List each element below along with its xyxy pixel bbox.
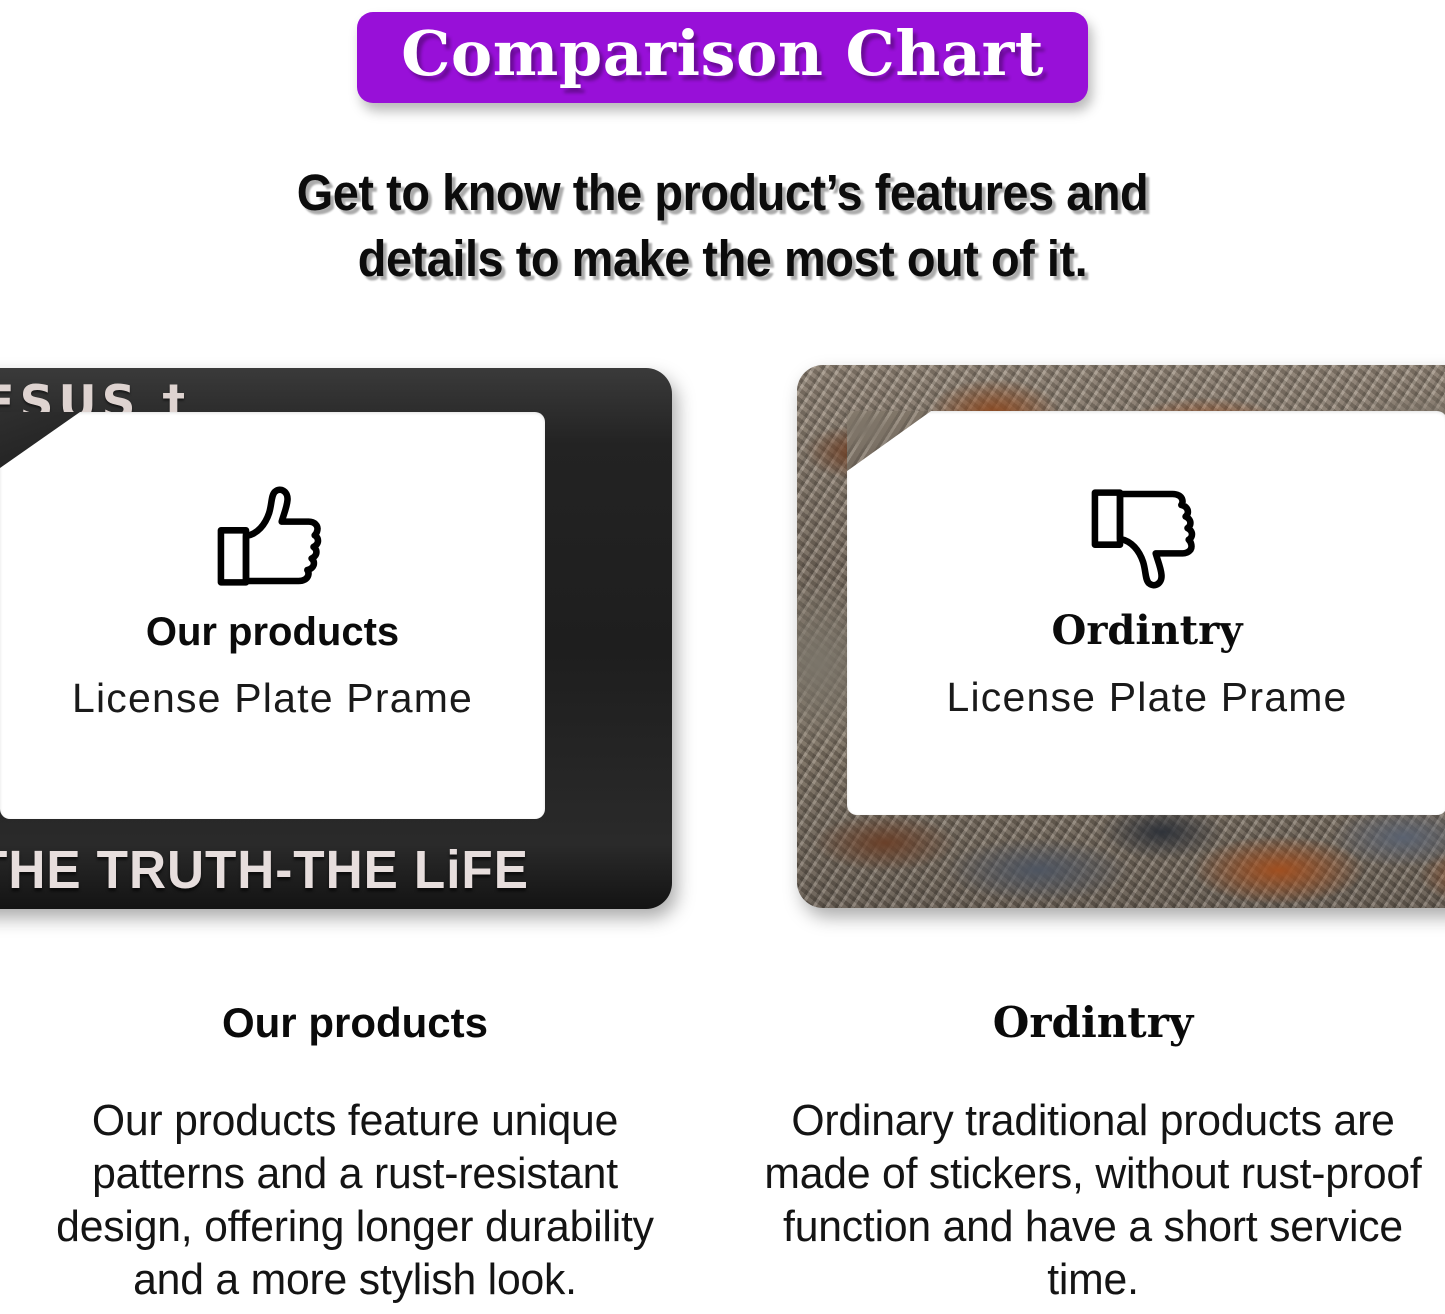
header-banner: Comparison Chart [357,12,1088,103]
description-body-ours: Our products feature unique patterns and… [20,1094,689,1306]
thumbs-up-icon [214,484,332,592]
subtitle: Get to know the product’s features and d… [141,160,1305,292]
subtitle-line-1: Get to know the product’s features and [141,160,1305,226]
page-title: Comparison Chart [401,18,1044,89]
plate-subheading-ordinary: License Plate Prame [847,675,1445,720]
product-plate-ordinary[interactable]: Ordintry License Plate Prame [797,365,1445,908]
subtitle-line-2: details to make the most out of it. [141,226,1305,292]
plate-bottom-slogan-ours: -THE TRUTH-THE LiFE [0,839,672,901]
description-heading-ours: Our products [10,1000,700,1046]
description-heading-ordinary: Ordintry [748,1000,1438,1046]
header-banner-container: Comparison Chart [0,12,1445,103]
product-plate-ours[interactable]: JESUS † Our products License Plate Prame… [0,368,672,909]
plate-heading-ordinary: Ordintry [847,609,1445,653]
plate-window-content-ours: Our products License Plate Prame [0,484,545,721]
description-column-ours: Our products Our products feature unique… [10,1000,700,1306]
plate-window-ordinary: Ordintry License Plate Prame [847,411,1445,815]
plate-subheading-ours: License Plate Prame [0,676,545,721]
plate-window-ours: Our products License Plate Prame [0,412,545,819]
description-body-ordinary: Ordinary traditional products are made o… [758,1094,1427,1306]
plate-heading-ours: Our products [0,610,545,654]
plate-window-content-ordinary: Ordintry License Plate Prame [847,483,1445,720]
thumbs-down-icon [1088,483,1206,591]
description-column-ordinary: Ordintry Ordinary traditional products a… [748,1000,1438,1306]
